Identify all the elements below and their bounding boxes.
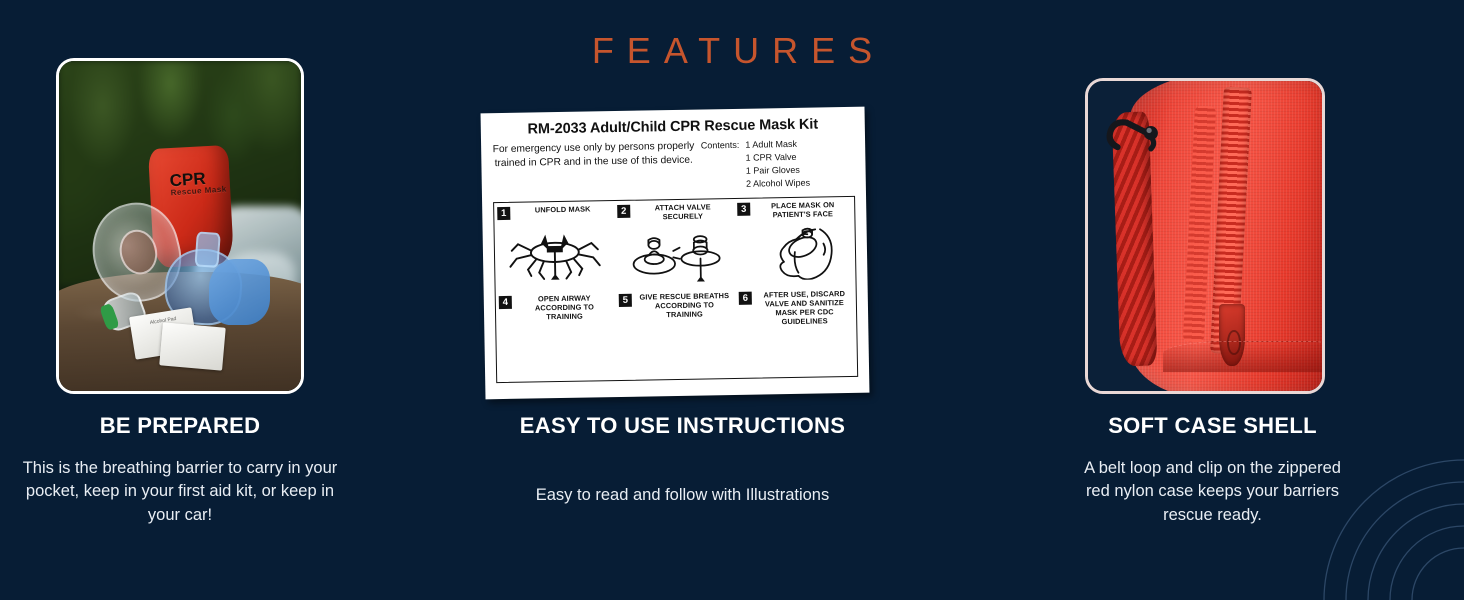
instruction-step: 2 ATTACH VALVE SECURELY xyxy=(614,199,736,291)
step-label: PLACE MASK ON PATIENT'S FACE xyxy=(754,201,851,220)
feature-body-easy-to-use: Easy to read and follow with Illustratio… xyxy=(455,484,910,507)
step-number: 5 xyxy=(619,294,632,307)
alcohol-wipe-packet-b xyxy=(159,322,225,370)
feature-columns: CPR Rescue Mask Alcohol Pad BE PREPARED … xyxy=(0,0,1464,600)
cpr-kit-photo-frame: CPR Rescue Mask Alcohol Pad xyxy=(56,58,304,394)
instruction-card-blurb: For emergency use only by persons proper… xyxy=(492,140,696,195)
step-illustration-valve-attach xyxy=(617,221,732,289)
blue-glove xyxy=(209,259,270,325)
feature-heading-soft-case-shell: SOFT CASE SHELL xyxy=(1080,411,1345,440)
contents-item: 1 CPR Valve xyxy=(745,151,809,165)
step-illustration-rescue-breaths xyxy=(619,321,734,378)
instruction-step: 3 PLACE MASK ON PATIENT'S FACE xyxy=(734,197,856,289)
contents-item: 2 Alcohol Wipes xyxy=(746,176,810,190)
contents-item: 1 Adult Mask xyxy=(745,138,809,152)
feature-heading-easy-to-use: EASY TO USE INSTRUCTIONS xyxy=(455,411,910,440)
red-nylon-zippered-case-photo xyxy=(1088,81,1322,391)
step-illustration-mask-on-face xyxy=(737,218,852,286)
step-label: AFTER USE, DISCARD VALVE AND SANITIZE MA… xyxy=(756,290,854,327)
instruction-card-photo: RM-2033 Adult/Child CPR Rescue Mask Kit … xyxy=(481,107,870,400)
feature-heading-be-prepared: BE PREPARED xyxy=(20,411,340,440)
instruction-step: 4 OPEN AIRWAY ACCORDING TO TRAINING xyxy=(496,290,618,382)
step-illustration-discard-valve xyxy=(739,328,854,376)
cpr-rescue-mask-kit-on-rock-photo: CPR Rescue Mask Alcohol Pad xyxy=(59,61,301,391)
step-number: 6 xyxy=(739,292,752,305)
feature-body-be-prepared: This is the breathing barrier to carry i… xyxy=(20,457,340,527)
step-label: ATTACH VALVE SECURELY xyxy=(634,203,731,222)
pouch-label: CPR Rescue Mask xyxy=(170,168,239,198)
step-number: 1 xyxy=(497,207,510,220)
instruction-step: 6 AFTER USE, DISCARD VALVE AND SANITIZE … xyxy=(736,286,858,378)
feature-body-soft-case-shell: A belt loop and clip on the zippered red… xyxy=(1080,457,1345,527)
contents-list: 1 Adult Mask 1 CPR Valve 1 Pair Gloves 2… xyxy=(745,138,810,191)
step-label: UNFOLD MASK xyxy=(514,205,611,216)
instruction-steps-grid: 1 UNFOLD MASK xyxy=(493,196,858,383)
step-illustration-mask-unfold xyxy=(497,218,612,290)
instruction-step: 1 UNFOLD MASK xyxy=(494,201,616,293)
case-seam xyxy=(1163,341,1325,372)
step-illustration-open-airway xyxy=(499,323,614,380)
step-number: 4 xyxy=(499,296,512,309)
step-number: 2 xyxy=(617,205,630,218)
contents-item: 1 Pair Gloves xyxy=(746,164,810,178)
instruction-card: RM-2033 Adult/Child CPR Rescue Mask Kit … xyxy=(481,107,870,400)
step-number: 3 xyxy=(737,202,750,215)
step-label: OPEN AIRWAY ACCORDING TO TRAINING xyxy=(516,294,613,322)
instruction-card-contents: Contents: 1 Adult Mask 1 CPR Valve 1 Pai… xyxy=(701,137,855,191)
black-carabiner-clip-icon xyxy=(1100,106,1170,174)
instruction-card-title: RM-2033 Adult/Child CPR Rescue Mask Kit xyxy=(492,116,854,138)
step-label: GIVE RESCUE BREATHS ACCORDING TO TRAININ… xyxy=(636,292,733,320)
soft-case-photo-frame xyxy=(1085,78,1325,394)
contents-label: Contents: xyxy=(701,139,740,191)
instruction-step: 5 GIVE RESCUE BREATHS ACCORDING TO TRAIN… xyxy=(616,288,738,380)
